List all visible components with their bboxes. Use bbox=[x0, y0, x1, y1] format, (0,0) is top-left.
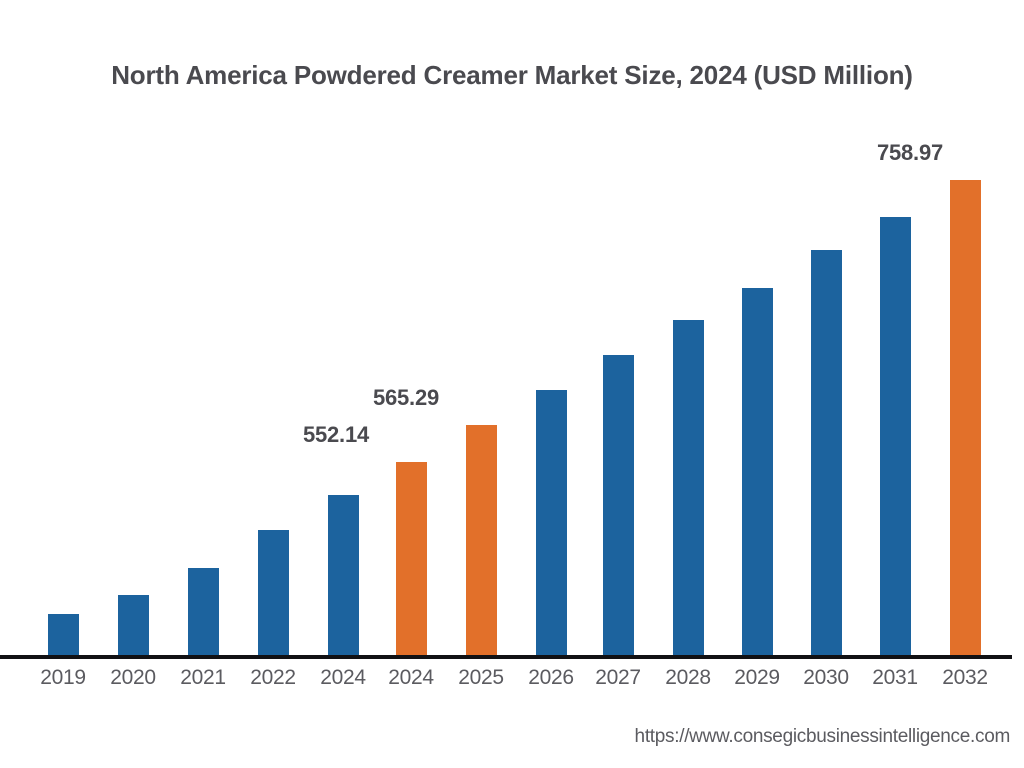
x-tick-label-13: 2032 bbox=[925, 666, 1005, 690]
x-tick-label-2: 2021 bbox=[163, 666, 243, 690]
bar-2020-1 bbox=[118, 595, 149, 655]
value-label-2025-6: 565.29 bbox=[336, 385, 476, 411]
x-tick-label-11: 2030 bbox=[786, 666, 866, 690]
value-label-2024-5: 552.14 bbox=[266, 422, 406, 448]
bar-2030-11 bbox=[811, 250, 842, 655]
bar-2026-7 bbox=[536, 390, 567, 655]
x-tick-label-0: 2019 bbox=[23, 666, 103, 690]
x-tick-label-8: 2027 bbox=[578, 666, 658, 690]
bar-2027-8 bbox=[603, 355, 634, 655]
plot-area: 552.14565.29758.97 bbox=[0, 0, 1024, 660]
bar-2021-2 bbox=[188, 568, 219, 655]
x-tick-label-12: 2031 bbox=[855, 666, 935, 690]
x-tick-label-10: 2029 bbox=[717, 666, 797, 690]
bar-2029-10 bbox=[742, 288, 773, 655]
value-label-2032-13: 758.97 bbox=[840, 140, 980, 166]
x-tick-label-1: 2020 bbox=[93, 666, 173, 690]
chart-page: North America Powdered Creamer Market Si… bbox=[0, 0, 1024, 768]
x-tick-label-3: 2022 bbox=[233, 666, 313, 690]
bar-2024-4 bbox=[328, 495, 359, 655]
bar-2032-13 bbox=[950, 180, 981, 655]
bar-2024-5 bbox=[396, 462, 427, 655]
source-url: https://www.consegicbusinessintelligence… bbox=[635, 726, 1010, 748]
x-tick-label-5: 2024 bbox=[371, 666, 451, 690]
bar-2022-3 bbox=[258, 530, 289, 655]
x-tick-label-6: 2025 bbox=[441, 666, 521, 690]
bar-2028-9 bbox=[673, 320, 704, 655]
x-axis-line bbox=[0, 655, 1012, 659]
bar-2031-12 bbox=[880, 217, 911, 655]
bar-2025-6 bbox=[466, 425, 497, 655]
x-tick-label-9: 2028 bbox=[648, 666, 728, 690]
bar-2019-0 bbox=[48, 614, 79, 655]
